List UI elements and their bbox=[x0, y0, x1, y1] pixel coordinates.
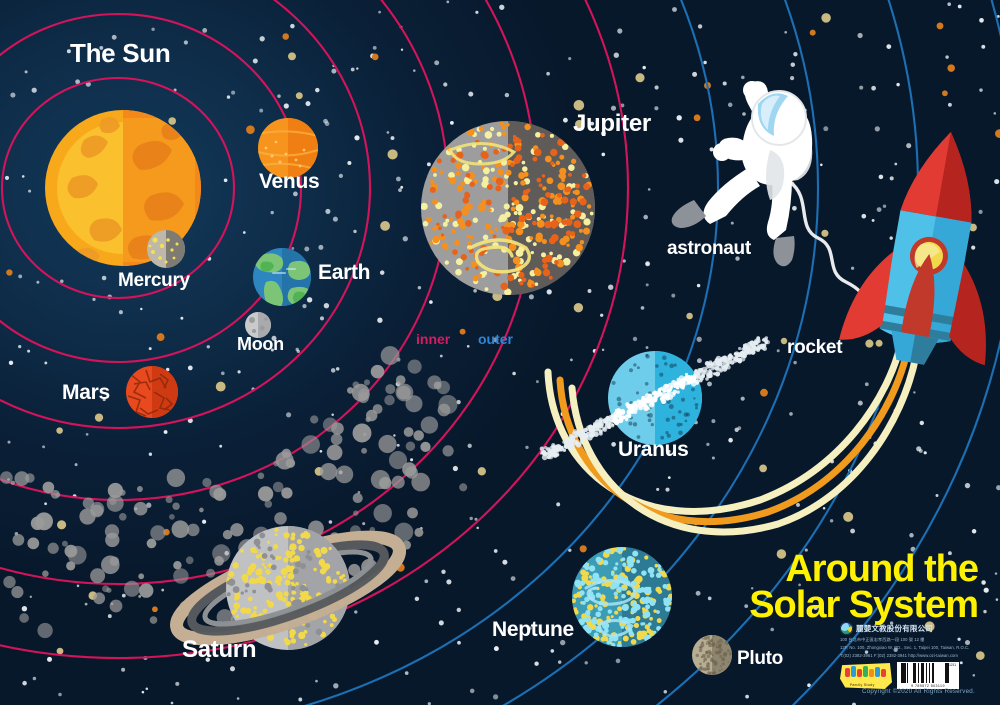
publisher-address-en: 12F, No. 100, Zhongxiao W. RD., Sec. 1, … bbox=[840, 645, 988, 652]
label-jupiter: Jupiter bbox=[573, 110, 651, 138]
publisher-name-row: 麗嬰文教股份有限公司 bbox=[840, 622, 988, 635]
kids-brand-logo: Family Study bbox=[840, 663, 892, 689]
barcode-number: 9 789572 503119 bbox=[899, 684, 957, 688]
publisher-address-cn: 100 台北市中正區忠孝西路一段 100 號 12 樓 bbox=[840, 637, 988, 644]
label-the-sun: The Sun bbox=[70, 38, 170, 69]
label-venus: Venus bbox=[259, 170, 319, 194]
publisher-block: 麗嬰文教股份有限公司 100 台北市中正區忠孝西路一段 100 號 12 樓 1… bbox=[840, 622, 988, 689]
solar-system-poster: The Sun Mercury Venus Earth Moon Mars Ju… bbox=[0, 0, 1000, 705]
label-mars: Mars bbox=[62, 381, 110, 405]
poster-title: Around the Solar System bbox=[600, 551, 978, 624]
label-neptune: Neptune bbox=[492, 618, 574, 642]
label-astronaut: astronaut bbox=[667, 238, 751, 260]
publisher-contact: T:(02) 2382-3961 F:(02) 2382-3941 http:/… bbox=[840, 653, 988, 660]
rocket bbox=[837, 119, 1000, 375]
label-pluto: Pluto bbox=[737, 648, 783, 670]
legend-outer: outer bbox=[478, 331, 513, 347]
publisher-company-name: 麗嬰文教股份有限公司 bbox=[856, 623, 933, 634]
barcode-top-number: 811211 bbox=[946, 663, 956, 667]
barcode: 811211 9 789572 503119 bbox=[897, 662, 959, 689]
kids-brand-sub: Family Study bbox=[850, 683, 875, 687]
publisher-logo-icon bbox=[840, 622, 853, 635]
legend-inner: inner bbox=[416, 331, 450, 347]
copyright-text: Copyright ©2020 All Rights Reserved. bbox=[862, 688, 975, 695]
label-mercury: Mercury bbox=[118, 270, 190, 292]
label-saturn: Saturn bbox=[182, 636, 256, 664]
label-rocket: rocket bbox=[787, 337, 842, 359]
label-moon: Moon bbox=[237, 334, 284, 355]
label-uranus: Uranus bbox=[618, 438, 689, 462]
label-earth: Earth bbox=[318, 261, 370, 285]
